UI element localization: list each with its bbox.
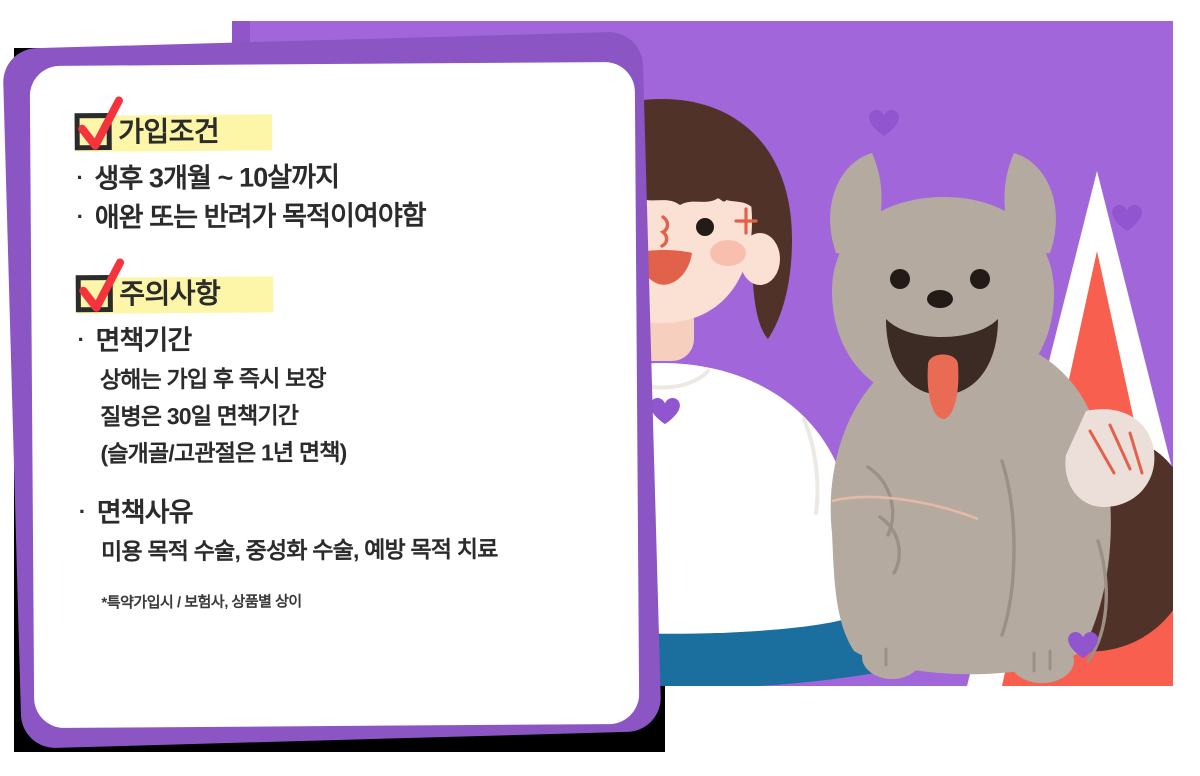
bullet-marker: · — [76, 160, 94, 196]
bullet-marker: · — [77, 322, 95, 358]
bullet-marker: · — [79, 494, 97, 530]
list-item-label: 생후 3개월 ~ 10살까지 — [94, 156, 601, 199]
heart-icon — [1068, 632, 1098, 659]
section-title: 주의사항 — [119, 280, 220, 309]
info-card: 가입조건 · 생후 3개월 ~ 10살까지 · 애완 또는 반려가 목적이여야함 — [30, 62, 640, 728]
caution-bullet-list: · 면책기간 — [77, 318, 602, 361]
exclusion-bullet-list: · 면책사유 — [79, 490, 604, 533]
heart-icon — [869, 110, 899, 137]
poster-canvas: 가입조건 · 생후 3개월 ~ 10살까지 · 애완 또는 반려가 목적이여야함 — [0, 0, 1200, 776]
bullet-marker: · — [77, 199, 95, 235]
exclusion-detail-1: 미용 목적 수술, 중성화 수술, 예방 목적 치료 — [101, 532, 604, 570]
subsection-spacer — [79, 468, 604, 490]
list-item-label: 면책사유 — [97, 490, 604, 533]
section-title: 가입조건 — [118, 118, 219, 147]
heart-icon — [650, 398, 680, 425]
waiting-period-detail-3: (슬개골/고관절은 1년 면책) — [100, 433, 603, 471]
checkbox-checked-icon — [77, 275, 111, 315]
list-item: · 면책기간 — [77, 318, 602, 361]
list-item-label: 애완 또는 반려가 목적이여야함 — [95, 195, 602, 238]
list-item: · 애완 또는 반려가 목적이여야함 — [77, 195, 602, 238]
waiting-period-detail-1: 상해는 가입 후 즉시 보장 — [100, 360, 603, 398]
list-item-label: 면책기간 — [95, 318, 602, 361]
list-item: · 생후 3개월 ~ 10살까지 — [76, 156, 601, 199]
checkbox-checked-icon — [76, 113, 110, 153]
list-item: · 면책사유 — [79, 490, 604, 533]
waiting-period-detail-2: 질병은 30일 면책기간 — [100, 397, 603, 435]
info-card-content: 가입조건 · 생후 3개월 ~ 10살까지 · 애완 또는 반려가 목적이여야함 — [30, 62, 640, 728]
enrollment-bullet-list: · 생후 3개월 ~ 10살까지 · 애완 또는 반려가 목적이여야함 — [76, 156, 602, 238]
section-spacer — [77, 234, 602, 272]
card-footnote: *특약가입시 / 보험사, 상품별 상이 — [101, 588, 604, 613]
heart-icon — [1112, 205, 1142, 232]
section-heading-enrollment: 가입조건 — [76, 106, 601, 156]
section-heading-caution: 주의사항 — [77, 268, 602, 318]
